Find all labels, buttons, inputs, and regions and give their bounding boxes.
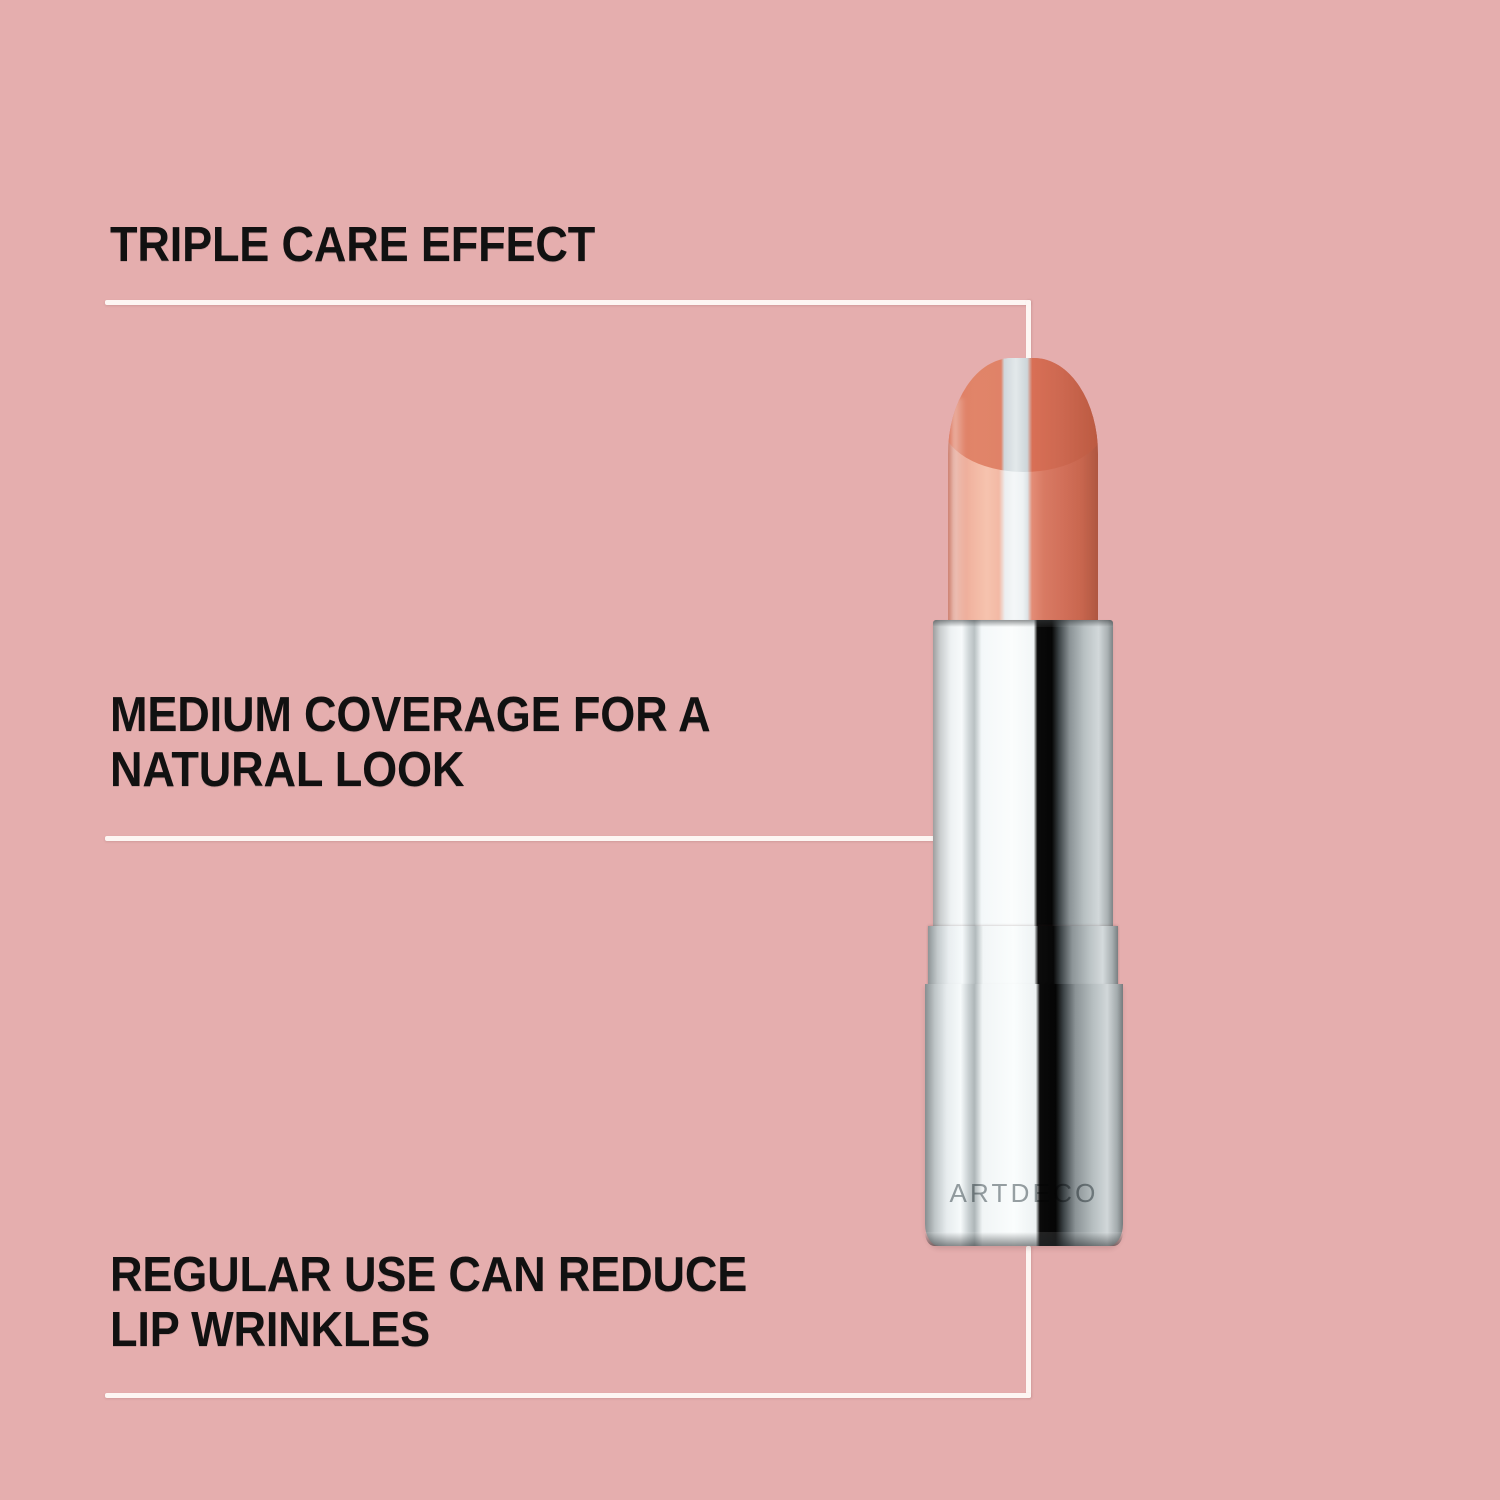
lipstick-case-top-rim: [933, 620, 1113, 627]
lipstick-bullet: [948, 358, 1098, 646]
leader-line-lip-wrinkles-vertical: [1026, 1246, 1031, 1398]
lipstick-product-image: ARTDECO: [900, 340, 1160, 1260]
lipstick-case-collar: [928, 926, 1118, 988]
feature-label-triple-care-effect: TRIPLE CARE EFFECT: [110, 218, 595, 273]
leader-line-triple-care-horizontal: [105, 300, 1031, 305]
product-feature-graphic: TRIPLE CARE EFFECT MEDIUM COVERAGE FOR A…: [0, 0, 1500, 1500]
feature-label-medium-coverage: MEDIUM COVERAGE FOR A NATURAL LOOK: [110, 688, 711, 799]
leader-line-medium-coverage-horizontal: [105, 836, 935, 841]
brand-logo-artdeco: ARTDECO: [925, 1178, 1123, 1209]
leader-line-lip-wrinkles-horizontal: [105, 1393, 1031, 1398]
feature-label-lip-wrinkles: REGULAR USE CAN REDUCE LIP WRINKLES: [110, 1248, 747, 1359]
lipstick-case-bottom-rim: [925, 1232, 1123, 1246]
lipstick-bullet-rim-light: [952, 398, 966, 646]
lipstick-bullet-top-face: [948, 358, 1098, 472]
lipstick-case-upper-sleeve: [933, 620, 1113, 932]
